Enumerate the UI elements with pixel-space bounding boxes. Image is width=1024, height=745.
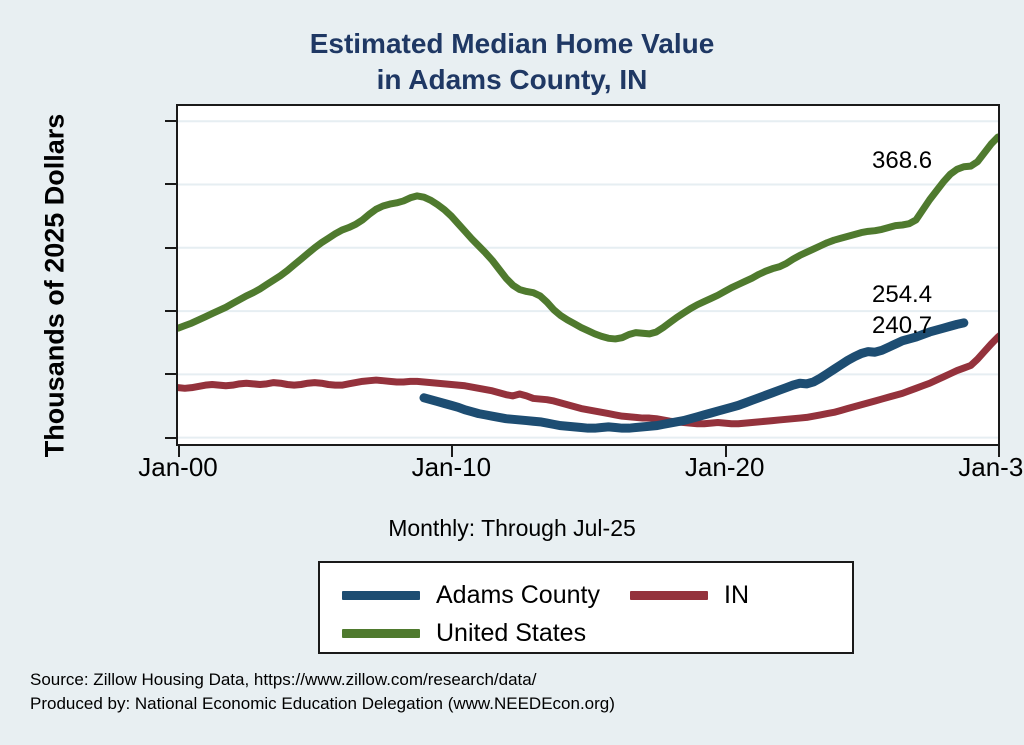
x-tick-mark bbox=[725, 446, 727, 457]
legend-label-adams-county: Adams County bbox=[436, 581, 600, 610]
end-value-label-united-states: 368.6 bbox=[872, 147, 932, 175]
chart-title-line-1: Estimated Median Home Value bbox=[0, 26, 1024, 62]
end-value-label-adams-county: 240.7 bbox=[872, 312, 932, 340]
legend-item-indiana[interactable]: IN bbox=[630, 581, 749, 610]
y-tick-mark bbox=[165, 183, 176, 185]
y-tick-mark bbox=[165, 373, 176, 375]
legend-label-united-states: United States bbox=[436, 619, 586, 648]
legend-swatch-adams-county bbox=[342, 591, 420, 600]
chart-figure: Estimated Median Home Value in Adams Cou… bbox=[0, 0, 1024, 745]
chart-title: Estimated Median Home Value in Adams Cou… bbox=[0, 26, 1024, 98]
y-tick-mark bbox=[165, 120, 176, 122]
y-tick-mark bbox=[165, 310, 176, 312]
end-value-label-in: 254.4 bbox=[872, 281, 932, 309]
x-tick-mark bbox=[451, 446, 453, 457]
legend-swatch-indiana bbox=[630, 591, 708, 600]
legend-label-indiana: IN bbox=[724, 581, 749, 610]
x-tick-mark bbox=[178, 446, 180, 457]
x-tick-mark bbox=[998, 446, 1000, 457]
legend-item-adams-county[interactable]: Adams County bbox=[342, 581, 600, 610]
y-axis-label: Thousands of 2025 Dollars bbox=[40, 76, 71, 496]
footer-producer: Produced by: National Economic Education… bbox=[30, 692, 615, 716]
legend-item-united-states[interactable]: United States bbox=[342, 619, 586, 648]
x-tick-label: Jan-30 bbox=[898, 452, 1024, 483]
chart-footer: Source: Zillow Housing Data, https://www… bbox=[30, 668, 615, 716]
chart-title-line-2: in Adams County, IN bbox=[0, 62, 1024, 98]
chart-legend: Adams County IN United States bbox=[318, 561, 854, 654]
y-tick-mark bbox=[165, 247, 176, 249]
y-tick-mark bbox=[165, 437, 176, 439]
chart-subtitle: Monthly: Through Jul-25 bbox=[0, 515, 1024, 542]
footer-source: Source: Zillow Housing Data, https://www… bbox=[30, 668, 615, 692]
legend-swatch-united-states bbox=[342, 629, 420, 638]
